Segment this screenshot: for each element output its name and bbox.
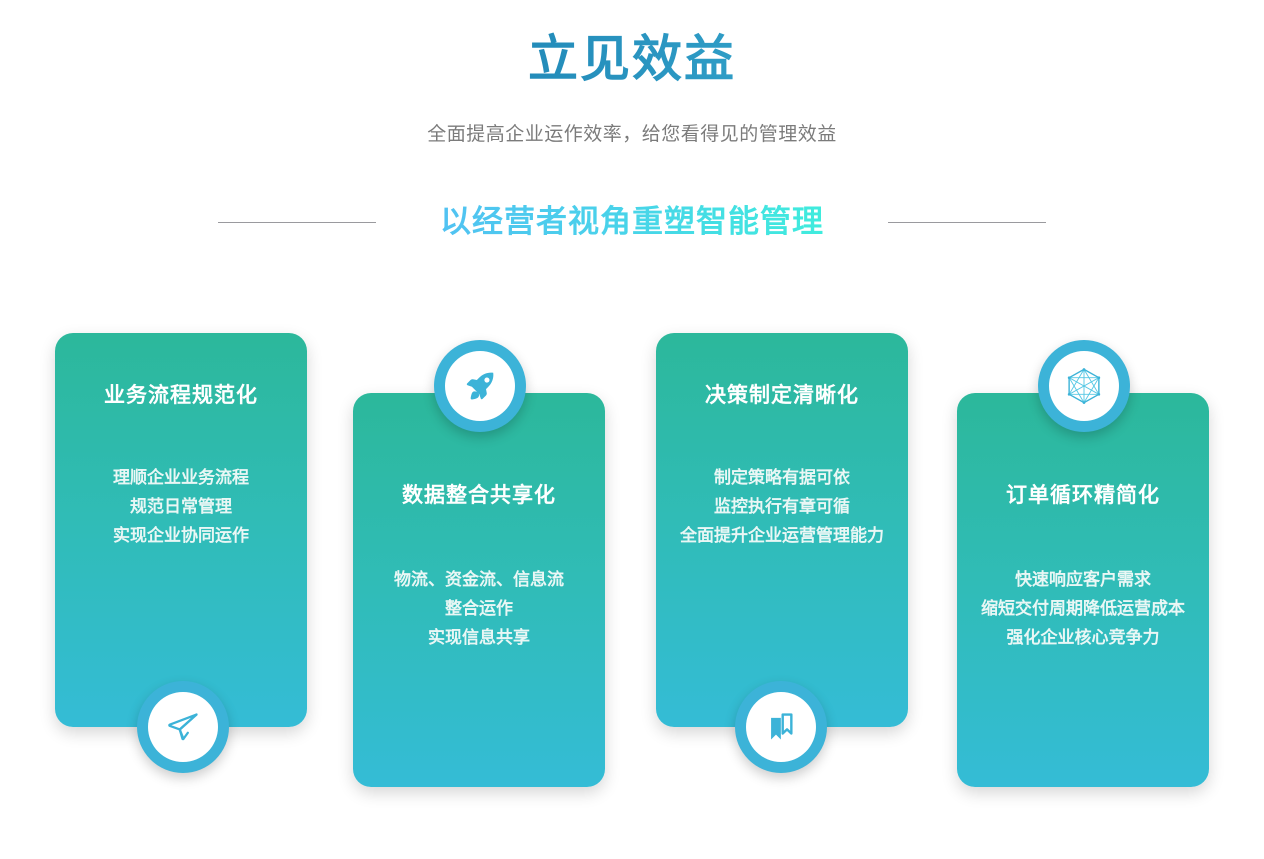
card-body: 物流、资金流、信息流 整合运作 实现信息共享 — [353, 565, 605, 652]
feature-card-order-cycle[interactable]: 订单循环精简化 快速响应客户需求 缩短交付周期降低运营成本 强化企业核心竞争力 — [957, 393, 1209, 787]
badge-inner — [445, 351, 515, 421]
bookmark-icon — [764, 710, 798, 744]
card-title: 决策制定清晰化 — [656, 381, 908, 411]
card-icon-badge-4[interactable] — [1038, 340, 1130, 432]
page-subtitle: 全面提高企业运作效率，给您看得见的管理效益 — [0, 120, 1264, 150]
feature-card-data-integration[interactable]: 数据整合共享化 物流、资金流、信息流 整合运作 实现信息共享 — [353, 393, 605, 787]
card-title: 业务流程规范化 — [55, 381, 307, 411]
hexagon-network-icon — [1063, 365, 1105, 407]
badge-inner — [746, 692, 816, 762]
heading-rule-right — [888, 222, 1046, 223]
section-heading: 以经营者视角重塑智能管理 — [440, 200, 824, 244]
card-icon-badge-2[interactable] — [434, 340, 526, 432]
card-body: 快速响应客户需求 缩短交付周期降低运营成本 强化企业核心竞争力 — [957, 565, 1209, 652]
section-heading-row: 以经营者视角重塑智能管理 — [0, 200, 1264, 244]
card-body: 制定策略有据可依 监控执行有章可循 全面提升企业运营管理能力 — [656, 463, 908, 550]
card-title: 数据整合共享化 — [353, 481, 605, 511]
card-icon-badge-1[interactable] — [137, 681, 229, 773]
page-title: 立见效益 — [0, 28, 1264, 90]
feature-card-business-process[interactable]: 业务流程规范化 理顺企业业务流程 规范日常管理 实现企业协同运作 — [55, 333, 307, 727]
badge-inner — [148, 692, 218, 762]
rocket-icon — [462, 368, 498, 404]
paper-plane-icon — [166, 710, 200, 744]
card-body: 理顺企业业务流程 规范日常管理 实现企业协同运作 — [55, 463, 307, 550]
card-title: 订单循环精简化 — [957, 481, 1209, 511]
badge-inner — [1049, 351, 1119, 421]
heading-rule-left — [218, 222, 376, 223]
card-icon-badge-3[interactable] — [735, 681, 827, 773]
feature-card-decision-making[interactable]: 决策制定清晰化 制定策略有据可依 监控执行有章可循 全面提升企业运营管理能力 — [656, 333, 908, 727]
